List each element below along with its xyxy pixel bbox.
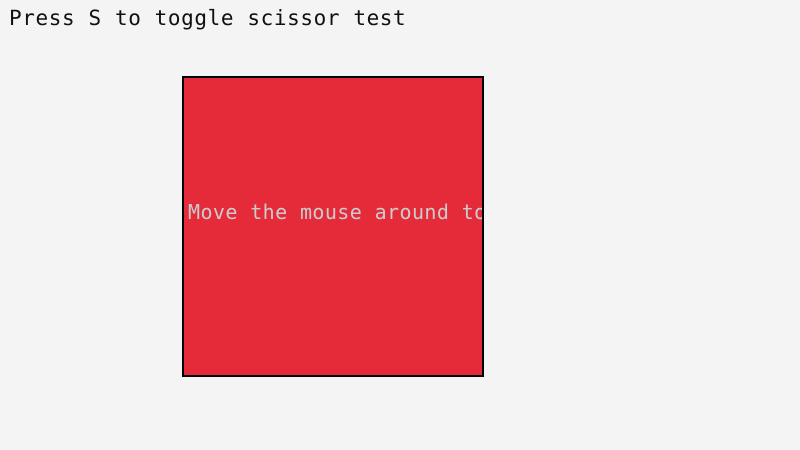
scissor-rectangle[interactable]: Move the mouse around to r xyxy=(182,76,484,377)
scissored-message-text: Move the mouse around to r xyxy=(188,201,484,223)
scissor-test-canvas: Press S to toggle scissor test Move the … xyxy=(0,0,800,450)
instruction-text: Press S to toggle scissor test xyxy=(9,6,406,30)
